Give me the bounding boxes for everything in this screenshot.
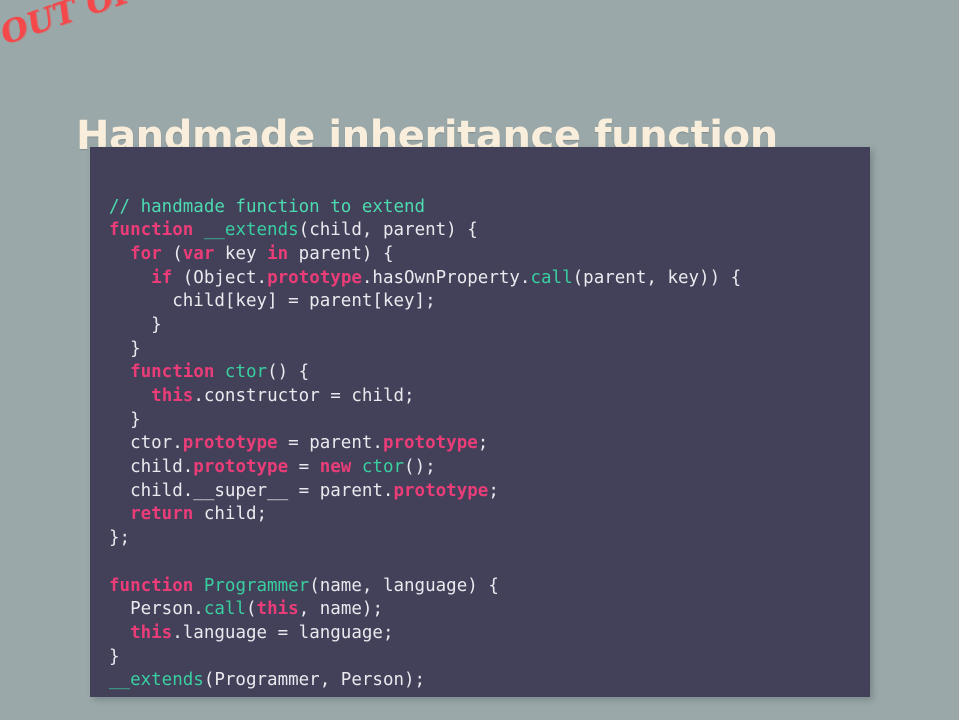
code-line: for (var key in parent) { xyxy=(109,243,870,267)
code-line: __extends(Programmer, Person); xyxy=(109,669,870,693)
code-line-blank xyxy=(109,551,870,575)
code-line: } xyxy=(109,338,870,362)
code-line: // handmade function to extend xyxy=(109,196,870,220)
code-line: if (Object.prototype.hasOwnProperty.call… xyxy=(109,267,870,291)
code-block: // handmade function to extendfunction _… xyxy=(109,196,870,693)
code-line: function Programmer(name, language) { xyxy=(109,575,870,599)
code-line: }; xyxy=(109,527,870,551)
code-line: child.prototype = new ctor(); xyxy=(109,456,870,480)
code-line: return child; xyxy=(109,503,870,527)
code-line: Person.call(this, name); xyxy=(109,598,870,622)
code-line: } xyxy=(109,646,870,670)
code-line: } xyxy=(109,409,870,433)
slide: OUT OF DATE! Handmade inheritance functi… xyxy=(0,0,959,720)
code-line: this.language = language; xyxy=(109,622,870,646)
out-of-date-stamp: OUT OF DATE! xyxy=(0,0,235,52)
code-line: child[key] = parent[key]; xyxy=(109,290,870,314)
code-line: child.__super__ = parent.prototype; xyxy=(109,480,870,504)
code-line: function __extends(child, parent) { xyxy=(109,219,870,243)
code-line: } xyxy=(109,314,870,338)
code-line: function ctor() { xyxy=(109,361,870,385)
code-line: ctor.prototype = parent.prototype; xyxy=(109,432,870,456)
code-line: this.constructor = child; xyxy=(109,385,870,409)
code-panel: // handmade function to extendfunction _… xyxy=(90,147,870,697)
